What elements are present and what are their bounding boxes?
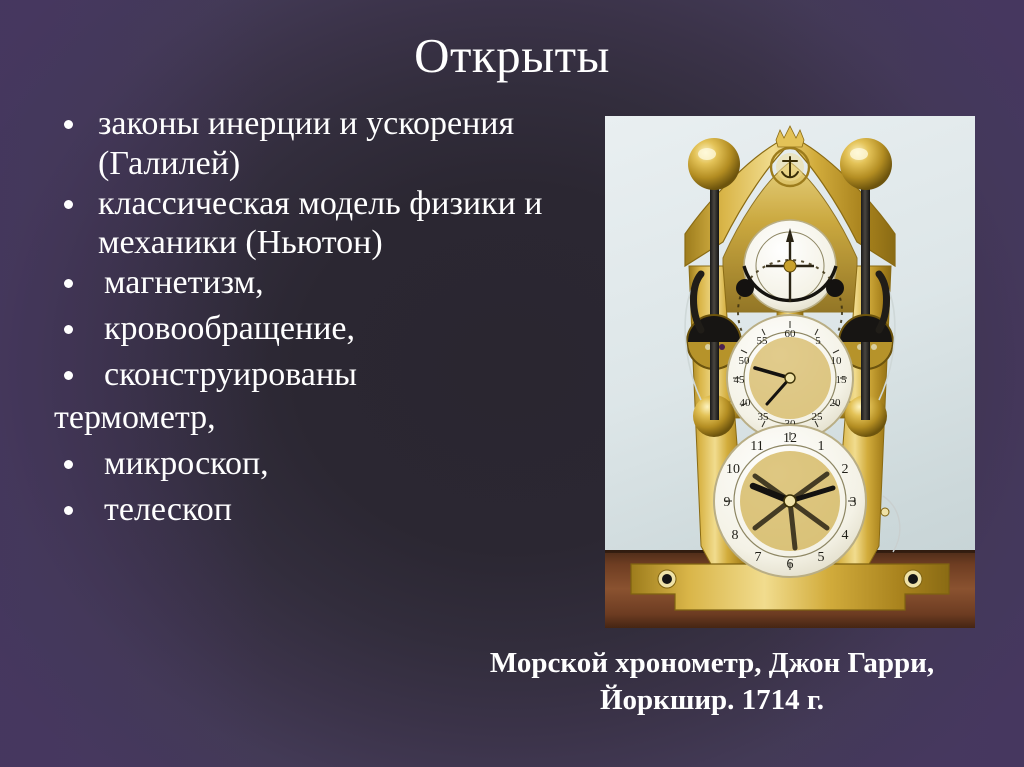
list-item: законы инерции и ускорения (Галилей) bbox=[52, 104, 597, 184]
bullet-dot-icon bbox=[52, 184, 86, 209]
svg-text:50: 50 bbox=[739, 355, 751, 367]
svg-text:2: 2 bbox=[842, 462, 849, 477]
list-item: кровообращение, bbox=[52, 309, 597, 349]
svg-text:7: 7 bbox=[755, 550, 762, 565]
clock-boss bbox=[826, 279, 844, 297]
page-title: Открыты bbox=[0, 30, 1024, 81]
clock-screw-head bbox=[908, 574, 918, 584]
bullet-dot-icon bbox=[52, 263, 86, 288]
bullet-dot-icon bbox=[52, 444, 86, 469]
svg-text:55: 55 bbox=[757, 335, 769, 347]
svg-text:3: 3 bbox=[850, 495, 857, 510]
list-item: микроскоп, bbox=[52, 444, 597, 484]
clock-seconds-dial: 60 5 10 15 20 25 30 35 40 45 50 55 bbox=[727, 315, 853, 441]
svg-text:40: 40 bbox=[740, 397, 752, 409]
clock-brass-ball bbox=[688, 138, 740, 190]
list-item: классическая модель физики и механики (Н… bbox=[52, 184, 597, 264]
bullet-dot-icon bbox=[52, 309, 86, 334]
list-item-label: магнетизм, bbox=[86, 263, 597, 303]
svg-text:10: 10 bbox=[831, 355, 843, 367]
chronometer-illustration: 60 5 10 15 20 25 30 35 40 45 50 55 bbox=[605, 116, 975, 628]
svg-text:60: 60 bbox=[785, 328, 797, 340]
clock-small-screw bbox=[881, 508, 889, 516]
svg-text:45: 45 bbox=[734, 374, 746, 386]
list-item-label: кровообращение, bbox=[86, 309, 597, 349]
list-item-label: сконструированы bbox=[86, 355, 597, 395]
svg-text:10: 10 bbox=[726, 462, 740, 477]
svg-text:15: 15 bbox=[836, 374, 848, 386]
clock-brass-ball bbox=[840, 138, 892, 190]
svg-text:35: 35 bbox=[758, 411, 770, 423]
list-item-continuation: термометр, bbox=[52, 398, 597, 438]
slide-canvas: Открыты законы инерции и ускорения (Гали… bbox=[0, 0, 1024, 767]
svg-text:8: 8 bbox=[732, 528, 739, 543]
list-item-label: законы инерции и ускорения (Галилей) bbox=[86, 104, 597, 184]
clock-balance-hub bbox=[784, 260, 796, 272]
photo-caption: Морской хронометр, Джон Гарри, Йоркшир. … bbox=[452, 645, 972, 718]
svg-text:20: 20 bbox=[830, 397, 842, 409]
clock-screw-head bbox=[662, 574, 672, 584]
bullet-list: законы инерции и ускорения (Галилей) кла… bbox=[52, 104, 597, 530]
list-item-label: телескоп bbox=[86, 490, 597, 530]
list-item-label: микроскоп, bbox=[86, 444, 597, 484]
bullet-dot-icon bbox=[52, 355, 86, 380]
list-item: сконструированы bbox=[52, 355, 597, 395]
svg-text:4: 4 bbox=[842, 528, 849, 543]
list-item-label: классическая модель физики и механики (Н… bbox=[86, 184, 597, 264]
clock-boss bbox=[736, 279, 754, 297]
bullet-dot-icon bbox=[52, 104, 86, 129]
marine-chronometer-photo: 60 5 10 15 20 25 30 35 40 45 50 55 bbox=[605, 116, 975, 628]
clock-hour-dial: 12 1 2 3 4 5 6 7 8 9 10 11 bbox=[714, 425, 866, 577]
svg-text:11: 11 bbox=[750, 439, 763, 454]
list-item: телескоп bbox=[52, 490, 597, 530]
svg-text:5: 5 bbox=[815, 335, 821, 347]
list-item: магнетизм, bbox=[52, 263, 597, 303]
clock-right-wire bbox=[883, 496, 900, 552]
svg-text:9: 9 bbox=[724, 495, 731, 510]
svg-text:5: 5 bbox=[818, 550, 825, 565]
bullet-dot-icon bbox=[52, 490, 86, 515]
svg-text:25: 25 bbox=[812, 411, 824, 423]
svg-text:1: 1 bbox=[818, 439, 825, 454]
